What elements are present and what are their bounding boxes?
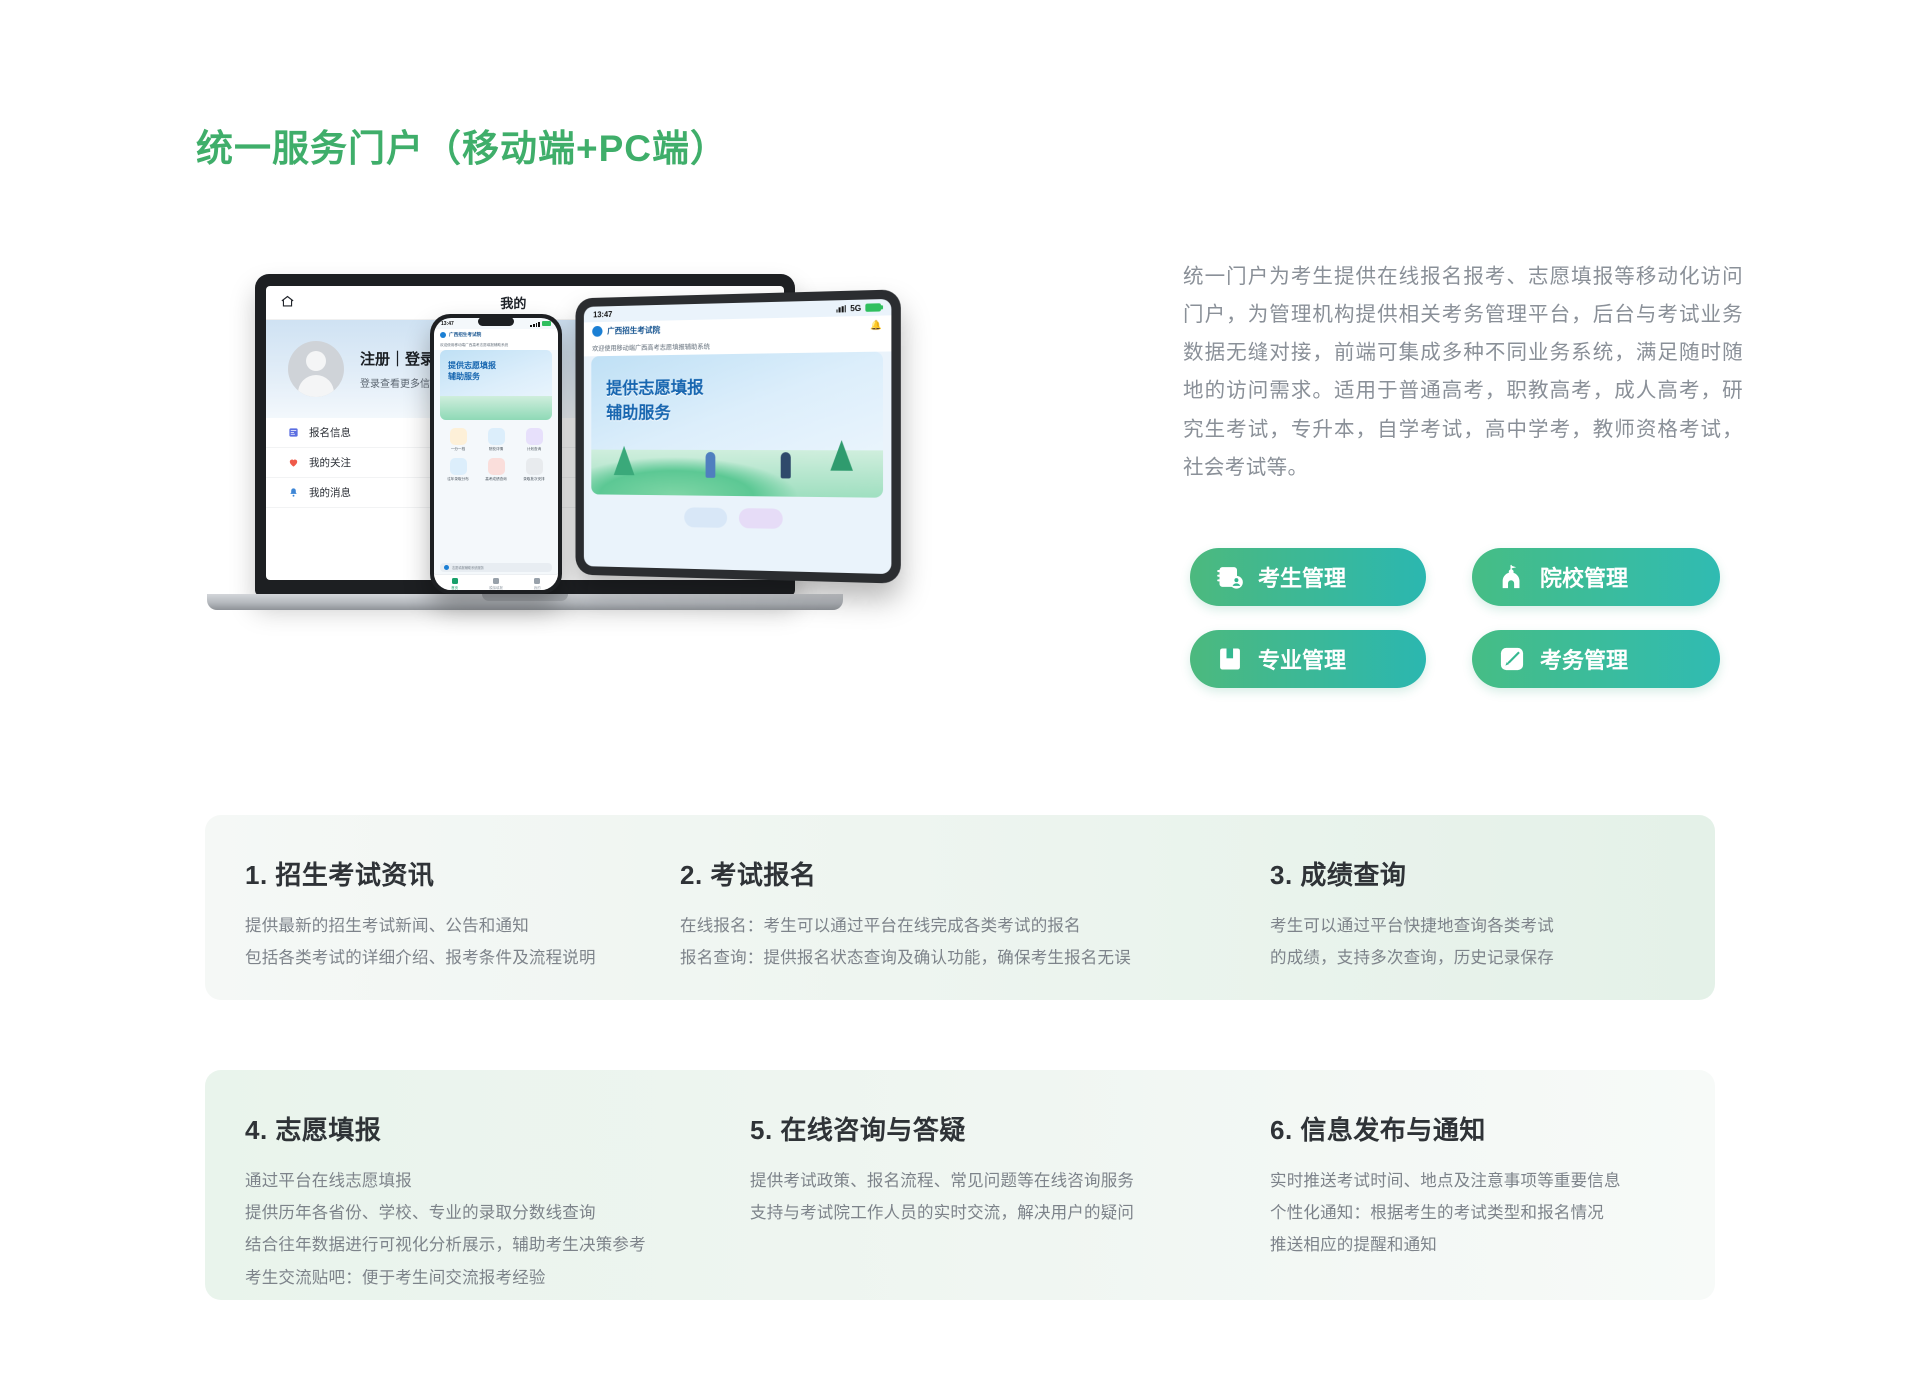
- grid-item[interactable]: 一分一档: [441, 428, 475, 452]
- app-name: 广西招生考试院: [449, 332, 481, 338]
- phone-app-header: 广西招生考试院: [434, 329, 558, 341]
- module-pill-group: 考生管理 院校管理 专业管理: [1190, 548, 1750, 688]
- phone-footer-banner[interactable]: 志愿填报辅助系统服务: [440, 563, 552, 572]
- grid-item-label: 院校详情: [479, 447, 513, 452]
- feature-line: 在线报名：考生可以通过平台在线完成各类考试的报名: [680, 910, 1270, 942]
- edit-icon: [493, 578, 499, 584]
- phone-feature-grid: 一分一档 院校详情 计划查询 往年录取分布: [434, 420, 558, 482]
- status-time: 13:47: [593, 310, 612, 319]
- pill-label: 专业管理: [1258, 643, 1346, 675]
- phone-notch: [478, 317, 514, 326]
- feature-line: 报名查询：提供报名状态查询及确认功能，确保考生报名无误: [680, 942, 1270, 974]
- tab-home[interactable]: 首页: [434, 575, 475, 590]
- pill-major-management[interactable]: 专业管理: [1190, 630, 1426, 688]
- phone-screen: 13:47 广西招生考试院 欢迎使用移动端广西高考志愿填报辅助系统: [434, 318, 558, 590]
- feature-line: 提供最新的招生考试新闻、公告和通知: [245, 910, 695, 942]
- feature-line: 提供历年各省份、学校、专业的录取分数线查询: [245, 1197, 745, 1229]
- feature-title: 6. 信息发布与通知: [1270, 1110, 1720, 1147]
- tablet-banner: 提供志愿填报 辅助服务: [591, 352, 883, 498]
- feature-line: 包括各类考试的详细介绍、报考条件及流程说明: [245, 942, 695, 974]
- home-icon[interactable]: [280, 294, 295, 312]
- portal-description: 统一门户为考生提供在线报名报考、志愿填报等移动化访问门户，为管理机构提供相关考务…: [1183, 258, 1743, 487]
- network-label: 5G: [850, 303, 861, 312]
- user-icon: [534, 578, 540, 584]
- tab-label: 我的: [534, 586, 541, 590]
- phone-tab-bar: 首页 模拟填报 我的: [434, 574, 558, 590]
- laptop-page-title: 我的: [500, 293, 526, 312]
- list-item-label: 报名信息: [309, 425, 351, 440]
- grid-item-label: 往年录取分布: [441, 477, 475, 482]
- feature-card-6: 6. 信息发布与通知 实时推送考试时间、地点及注意事项等重要信息 个性化通知：根…: [1270, 1070, 1720, 1300]
- list-icon: [526, 428, 543, 445]
- pill-label: 考生管理: [1258, 561, 1346, 593]
- school-building-icon: [1498, 563, 1526, 591]
- book-bookmark-icon: [1216, 645, 1244, 673]
- phone-banner-text: 提供志愿填报 辅助服务: [448, 360, 496, 382]
- battery-charging-icon: [865, 303, 881, 312]
- feature-card-5: 5. 在线咨询与答疑 提供考试政策、报名流程、常见问题等在线咨询服务 支持与考试…: [750, 1070, 1270, 1300]
- feature-title: 5. 在线咨询与答疑: [750, 1110, 1270, 1147]
- page-title: 统一服务门户（移动端+PC端）: [196, 118, 728, 172]
- avatar: [288, 341, 344, 397]
- banner-line-1: 提供志愿填报: [448, 360, 496, 371]
- grid-item[interactable]: 计划查询: [517, 428, 551, 452]
- tablet-frame: 13:47 5G 广西招生考试院 🔔: [576, 289, 901, 583]
- feature-title: 3. 成绩查询: [1270, 855, 1690, 892]
- app-name: 广西招生考试院: [607, 324, 660, 336]
- app-logo-icon: [444, 565, 449, 570]
- tab-label: 首页: [451, 586, 458, 590]
- bar-chart-icon: [450, 428, 467, 445]
- grid-item[interactable]: 往年录取分布: [441, 458, 475, 482]
- tablet-quick-actions: [584, 494, 892, 531]
- tablet-device: 13:47 5G 广西招生考试院 🔔: [568, 294, 898, 579]
- pill-label: 考务管理: [1540, 643, 1628, 675]
- tab-simulate[interactable]: 模拟填报: [475, 575, 516, 590]
- scatter-icon: [450, 458, 467, 475]
- feature-line: 推送相应的提醒和通知: [1270, 1229, 1720, 1261]
- tablet-banner-text: 提供志愿填报 辅助服务: [606, 376, 703, 425]
- status-time: 13:47: [441, 321, 454, 327]
- tree-icon: [830, 440, 853, 471]
- account-name[interactable]: 注册｜登录: [360, 348, 440, 369]
- grid-item-label: 录取批次安排: [517, 477, 551, 482]
- laptop-hinge-notch: [482, 594, 568, 601]
- feature-line: 结合往年数据进行可视化分析展示，辅助考生决策参考: [245, 1229, 745, 1261]
- grid-item[interactable]: 录取批次安排: [517, 458, 551, 482]
- list-item-label: 我的关注: [309, 455, 351, 470]
- feature-line: 考生可以通过平台快捷地查询各类考试: [1270, 910, 1690, 942]
- account-subtitle: 登录查看更多信息: [360, 375, 440, 390]
- heart-icon: [288, 457, 299, 468]
- calendar-icon: [526, 458, 543, 475]
- quick-action-chip[interactable]: [684, 507, 727, 528]
- feature-line: 个性化通知：根据考生的考试类型和报名情况: [1270, 1197, 1720, 1229]
- phone-frame: 13:47 广西招生考试院 欢迎使用移动端广西高考志愿填报辅助系统: [430, 314, 562, 594]
- phone-banner: 提供志愿填报 辅助服务: [440, 350, 552, 420]
- tab-label: 模拟填报: [489, 586, 503, 590]
- feature-line: 实时推送考试时间、地点及注意事项等重要信息: [1270, 1165, 1720, 1197]
- score-icon: [488, 458, 505, 475]
- phone-device: 13:47 广西招生考试院 欢迎使用移动端广西高考志愿填报辅助系统: [430, 314, 562, 594]
- footer-note: 志愿填报辅助系统服务: [452, 565, 484, 570]
- feature-title: 2. 考试报名: [680, 855, 1270, 892]
- banner-line-1: 提供志愿填报: [606, 376, 703, 401]
- grid-item[interactable]: 高考成绩查询: [479, 458, 513, 482]
- battery-icon: [542, 321, 551, 326]
- bell-icon: [288, 487, 299, 498]
- quick-action-chip[interactable]: [739, 508, 783, 529]
- school-icon: [488, 428, 505, 445]
- person-figure: [706, 452, 716, 478]
- feature-card-4: 4. 志愿填报 通过平台在线志愿填报 提供历年各省份、学校、专业的录取分数线查询…: [245, 1070, 745, 1300]
- banner-line-2: 辅助服务: [448, 371, 496, 382]
- tree-icon: [614, 446, 635, 475]
- grid-item-label: 高考成绩查询: [479, 477, 513, 482]
- pill-label: 院校管理: [1540, 561, 1628, 593]
- pill-school-management[interactable]: 院校管理: [1472, 548, 1720, 606]
- banner-line-2: 辅助服务: [606, 401, 703, 426]
- grid-item-label: 计划查询: [517, 447, 551, 452]
- candidate-card-icon: [1216, 563, 1244, 591]
- person-figure: [781, 452, 791, 478]
- form-icon: [288, 427, 299, 438]
- feature-line: 的成绩，支持多次查询，历史记录保存: [1270, 942, 1690, 974]
- feature-row-1: 1. 招生考试资讯 提供最新的招生考试新闻、公告和通知 包括各类考试的详细介绍、…: [205, 815, 1715, 1000]
- phone-welcome-text: 欢迎使用移动端广西高考志愿填报辅助系统: [434, 341, 558, 350]
- feature-title: 4. 志愿填报: [245, 1110, 745, 1147]
- feature-line: 通过平台在线志愿填报: [245, 1165, 745, 1197]
- signal-bars-icon: [836, 305, 846, 312]
- feature-line: 提供考试政策、报名流程、常见问题等在线咨询服务: [750, 1165, 1270, 1197]
- app-logo-icon: [592, 325, 602, 336]
- tab-mine[interactable]: 我的: [517, 575, 558, 590]
- feature-line: 考生交流贴吧：便于考生间交流报考经验: [245, 1262, 745, 1294]
- grid-item-label: 一分一档: [441, 447, 475, 452]
- feature-card-3: 3. 成绩查询 考生可以通过平台快捷地查询各类考试 的成绩，支持多次查询，历史记…: [1270, 815, 1690, 1000]
- pill-exam-affairs-management[interactable]: 考务管理: [1472, 630, 1720, 688]
- list-item-label: 我的消息: [309, 485, 351, 500]
- feature-row-2: 4. 志愿填报 通过平台在线志愿填报 提供历年各省份、学校、专业的录取分数线查询…: [205, 1070, 1715, 1300]
- app-logo-icon: [440, 332, 446, 338]
- feature-line: 支持与考试院工作人员的实时交流，解决用户的疑问: [750, 1197, 1270, 1229]
- home-icon: [452, 578, 458, 584]
- banner-illustration: [440, 396, 552, 420]
- signal-bars-icon: [530, 320, 540, 327]
- device-showcase: 我的 ••• 注册｜登录 登录查看更多信息: [170, 250, 1130, 710]
- feature-card-2: 2. 考试报名 在线报名：考生可以通过平台在线完成各类考试的报名 报名查询：提供…: [680, 815, 1270, 1000]
- pencil-square-icon: [1498, 645, 1526, 673]
- feature-card-1: 1. 招生考试资讯 提供最新的招生考试新闻、公告和通知 包括各类考试的详细介绍、…: [245, 815, 695, 1000]
- bell-icon[interactable]: 🔔: [870, 319, 882, 331]
- grid-item[interactable]: 院校详情: [479, 428, 513, 452]
- feature-title: 1. 招生考试资讯: [245, 855, 695, 892]
- page-root: 统一服务门户（移动端+PC端） 我的 •••: [0, 0, 1920, 1392]
- tablet-screen: 13:47 5G 广西招生考试院 🔔: [584, 299, 892, 574]
- pill-candidate-management[interactable]: 考生管理: [1190, 548, 1426, 606]
